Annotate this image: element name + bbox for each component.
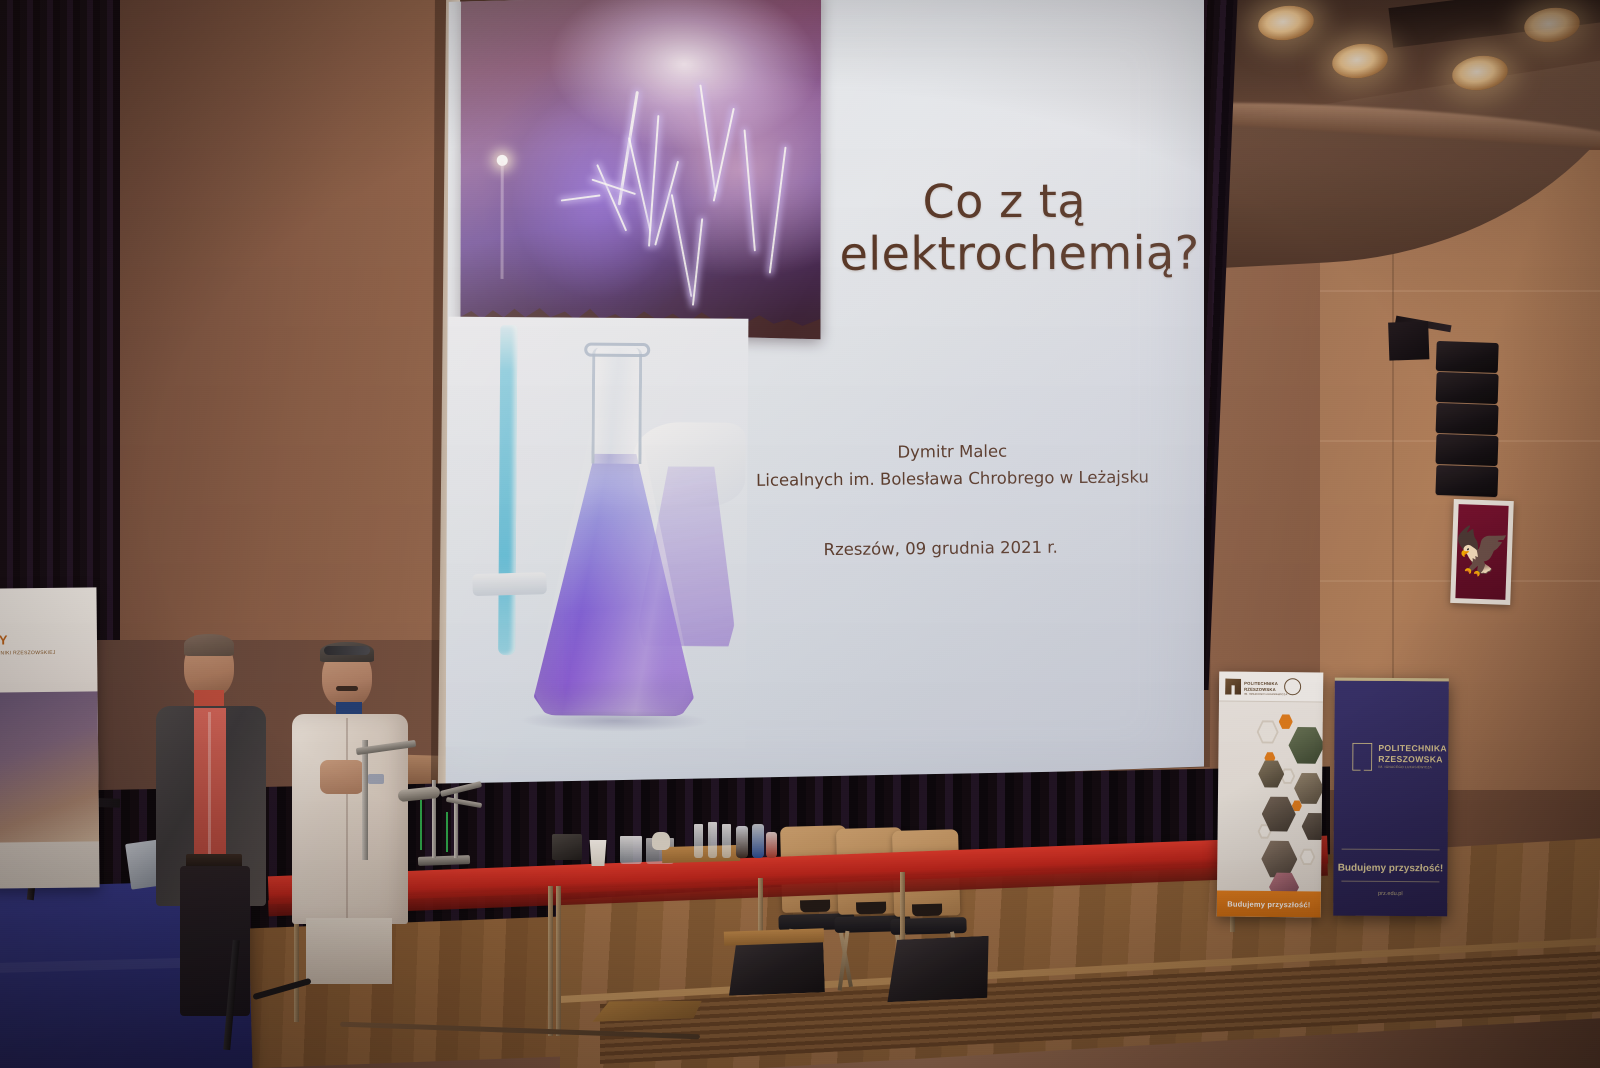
banner-hexagon: POLITECHNIKA RZESZOWSKA IM. IGNACEGO ŁUK… (1217, 671, 1324, 917)
slide-author-block: Dymitr Malec Licealnych im. Bolesława Ch… (702, 437, 1202, 495)
volumetric-flask (694, 824, 703, 858)
slide-title: Co z tą elektrochemią? (839, 176, 1169, 280)
table-leg (556, 886, 561, 1036)
hair (184, 634, 234, 656)
slide-place-date: Rzeszów, 09 grudnia 2021 r. (701, 536, 1181, 560)
beaker (620, 836, 642, 864)
polish-eagle-emblem: 🦅 (1450, 499, 1514, 605)
volumetric-flask (722, 824, 731, 858)
stage-curtain-left (0, 0, 120, 640)
presenter-in-lab-coat (290, 644, 410, 974)
eagle-icon: 🦅 (1453, 527, 1512, 575)
glasses-icon (324, 646, 370, 655)
hands (320, 760, 364, 794)
presenter-in-blazer (150, 636, 270, 1016)
slide-affiliation: Licealnych im. Bolesława Chrobrego w Leż… (702, 464, 1202, 495)
navy-banner-org-sub: IM. IGNACEGO ŁUKASIEWICZA (1378, 765, 1432, 769)
cloth (652, 832, 670, 850)
electrode-wire (446, 812, 448, 852)
university-logo-icon (1352, 743, 1372, 771)
banner-left-sub: POLITECHNIKI RZESZOWSKIEJ (0, 650, 56, 657)
faculty-logo-icon (1284, 678, 1301, 695)
hex-banner-org-sub: IM. IGNACEGO ŁUKASIEWICZA (1244, 693, 1287, 697)
banner-left-photo (0, 691, 99, 842)
hex-banner-slogan: Budujemy przyszłość! (1227, 899, 1310, 909)
navy-banner-org1: POLITECHNIKA (1378, 743, 1447, 755)
banner-navy: POLITECHNIKA RZESZOWSKA IM. IGNACEGO ŁUK… (1333, 678, 1449, 917)
coat-seam (346, 718, 348, 918)
electrode-wire (420, 800, 422, 850)
retort-stand-base (418, 855, 470, 866)
volumetric-flask (708, 822, 717, 858)
presentation-slide: Co z tą elektrochemią? Dymitr Malec Lice… (396, 0, 1213, 802)
projection-screen: Co z tą elektrochemią? Dymitr Malec Lice… (404, 0, 1204, 794)
university-logo-icon (1225, 679, 1241, 695)
slide-title-line1: Co z tą (839, 176, 1169, 229)
navy-banner-slogan: Budujemy przyszłość! (1333, 863, 1447, 875)
reagent-bottle (752, 824, 764, 858)
lecture-hall-photo: 🦅 (0, 0, 1600, 1068)
floor-monitor-2 (885, 936, 992, 1002)
tall-stand-rod (362, 740, 368, 860)
coat-logo (368, 774, 384, 784)
banner-left-line2: CZNY (0, 630, 8, 650)
shirt-placket (208, 712, 211, 854)
reagent-bottle (766, 832, 777, 858)
coat-lower (306, 918, 392, 984)
small-display (552, 834, 582, 860)
banner-left: AŁ CZNY POLITECHNIKI RZESZOWSKIEJ (0, 587, 100, 888)
floor-monitor-1 (727, 936, 825, 995)
reagent-bottle (736, 826, 748, 858)
navy-banner-link: prz.edu.pl (1333, 891, 1447, 898)
slide-title-line2: elektrochemią? (839, 227, 1169, 280)
line-array-speaker (1431, 341, 1502, 501)
erlenmeyer-flask-photo (445, 317, 748, 749)
lightning-storm-photo (460, 0, 821, 339)
moustache (336, 686, 358, 691)
test-tube (498, 325, 517, 655)
table-leg (548, 886, 553, 1036)
erlenmeyer-flask (534, 347, 697, 716)
